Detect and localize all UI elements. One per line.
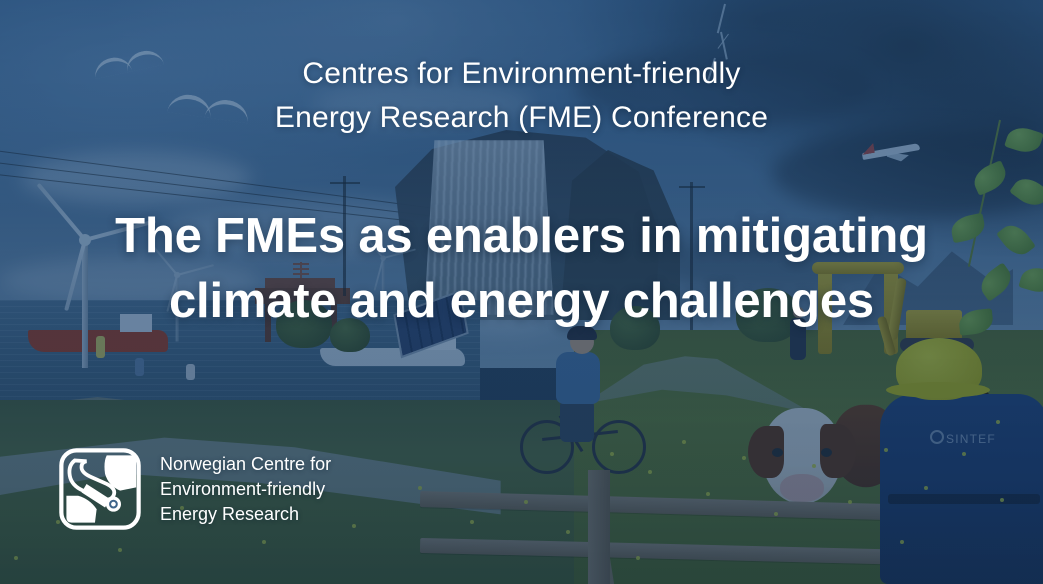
norwegian-centre-fme-logo-mark xyxy=(58,447,142,531)
headline-line-2: climate and energy challenges xyxy=(0,269,1043,334)
headline-line-1: The FMEs as enablers in mitigating xyxy=(0,204,1043,269)
logo-line-1: Norwegian Centre for xyxy=(160,452,331,477)
logo-wordmark: Norwegian Centre for Environment-friendl… xyxy=(160,452,331,527)
conference-headline: The FMEs as enablers in mitigating clima… xyxy=(0,204,1043,334)
logo-line-3: Energy Research xyxy=(160,502,331,527)
organisation-logo-lockup: Norwegian Centre for Environment-friendl… xyxy=(58,447,331,531)
logo-line-2: Environment-friendly xyxy=(160,477,331,502)
fme-conference-banner: SINTEF xyxy=(0,0,1043,584)
banner-content: Centres for Environment-friendly Energy … xyxy=(0,0,1043,584)
subtitle-line-1: Centres for Environment-friendly xyxy=(0,52,1043,96)
subtitle-line-2: Energy Research (FME) Conference xyxy=(0,96,1043,140)
conference-subtitle: Centres for Environment-friendly Energy … xyxy=(0,52,1043,140)
